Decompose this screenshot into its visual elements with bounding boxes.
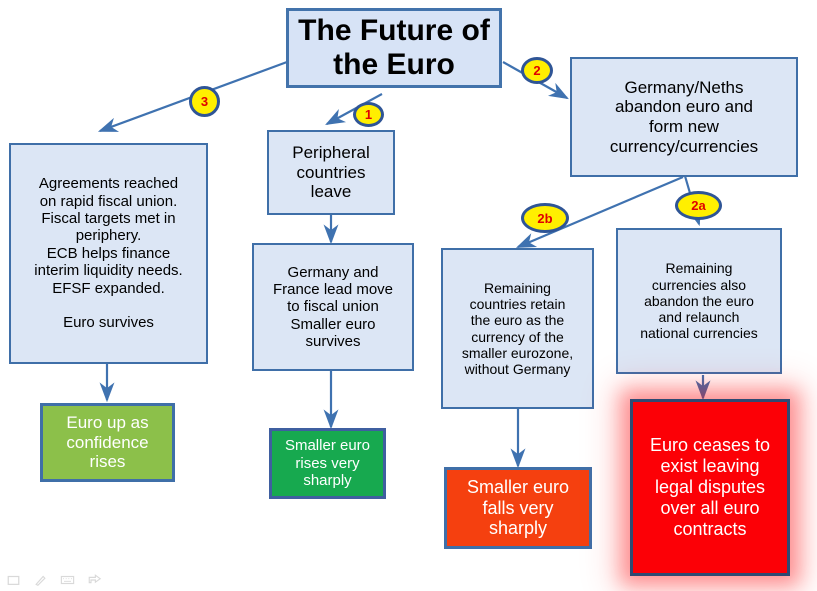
node-smaller-euro-falls-very-sharply[interactable]: Smaller euro falls very sharply [444,467,592,549]
taskbar-tray [6,573,102,587]
diagram-canvas: The Future of the Euro Peripheral countr… [0,0,817,591]
node-title[interactable]: The Future of the Euro [286,8,502,88]
badge-3[interactable]: 3 [189,86,220,117]
node-smaller-euro-rises-very-sharply[interactable]: Smaller euro rises very sharply [269,428,386,499]
node-euro-up-as-confidence-rises[interactable]: Euro up as confidence rises [40,403,175,482]
badge-2b[interactable]: 2b [521,203,569,233]
node-remaining-countries-retain-euro[interactable]: Remaining countries retain the euro as t… [441,248,594,409]
node-germany-neths-abandon-euro[interactable]: Germany/Neths abandon euro and form new … [570,57,798,177]
pen-icon[interactable] [33,573,48,587]
window-icon[interactable] [6,573,21,587]
share-icon[interactable] [87,573,102,587]
badge-2[interactable]: 2 [521,57,553,84]
badge-2a[interactable]: 2a [675,191,722,220]
node-agreements-reached-fiscal-union[interactable]: Agreements reached on rapid fiscal union… [9,143,208,364]
node-peripheral-countries-leave[interactable]: Peripheral countries leave [267,130,395,215]
node-germany-france-lead-fiscal-union[interactable]: Germany and France lead move to fiscal u… [252,243,414,371]
keyboard-icon[interactable] [60,573,75,587]
badge-1[interactable]: 1 [353,102,384,127]
node-euro-ceases-to-exist[interactable]: Euro ceases to exist leaving legal dispu… [630,399,790,576]
node-remaining-currencies-abandon-euro[interactable]: Remaining currencies also abandon the eu… [616,228,782,374]
